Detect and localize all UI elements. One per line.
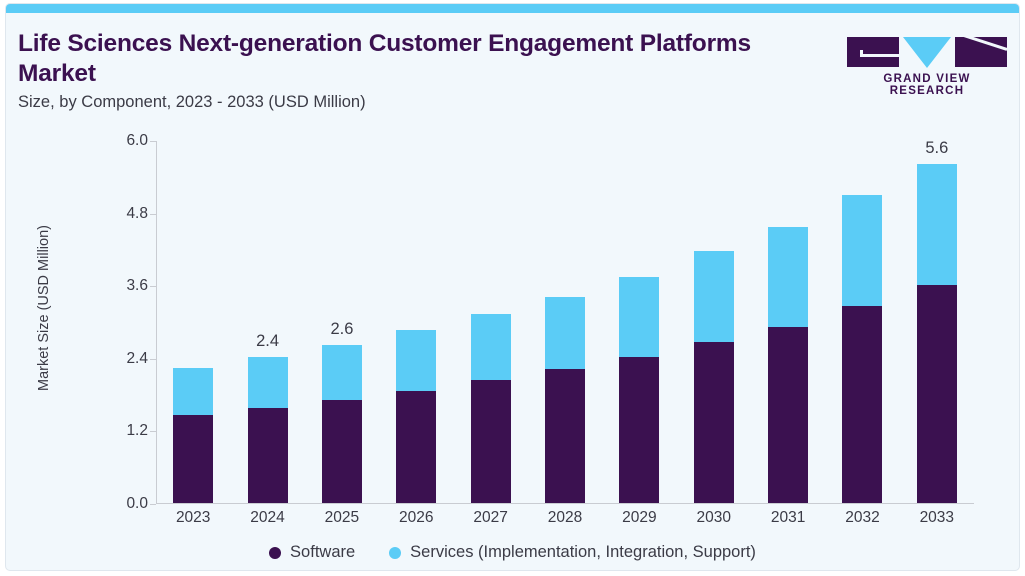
bar-segment-software[interactable] — [248, 408, 288, 503]
bar-segment-services[interactable] — [173, 368, 213, 415]
chart-subtitle: Size, by Component, 2023 - 2033 (USD Mil… — [18, 93, 366, 112]
bar-column-2026[interactable] — [396, 330, 436, 502]
x-tick-label-2033: 2033 — [900, 509, 974, 527]
logo-rect-left-icon — [847, 37, 899, 67]
logo-rect-right-icon — [955, 37, 1007, 67]
legend-swatch-icon — [269, 547, 281, 559]
legend-swatch-icon — [389, 547, 401, 559]
bar-segment-software[interactable] — [619, 357, 659, 502]
chart-legend: SoftwareServices (Implementation, Integr… — [6, 543, 1019, 562]
bar-segment-services[interactable] — [471, 314, 511, 381]
x-tick-label-2026: 2026 — [379, 509, 453, 527]
y-tick-label: 3.6 — [104, 277, 148, 295]
bar-column-2024[interactable]: 2.4 — [248, 357, 288, 502]
page-title: Life Sciences Next-generation Customer E… — [18, 29, 778, 89]
y-tick-mark — [150, 214, 156, 215]
bar-segment-services[interactable] — [768, 227, 808, 327]
legend-item-software[interactable]: Software — [269, 543, 355, 562]
x-tick-label-2031: 2031 — [751, 509, 825, 527]
legend-label: Software — [290, 543, 355, 562]
y-tick-mark — [150, 286, 156, 287]
bar-segment-services[interactable] — [694, 251, 734, 342]
bar-value-label-2033: 5.6 — [925, 139, 948, 158]
bar-segment-software[interactable] — [396, 391, 436, 503]
x-tick-label-2027: 2027 — [453, 509, 527, 527]
legend-item-services[interactable]: Services (Implementation, Integration, S… — [389, 543, 756, 562]
accent-top-bar — [6, 4, 1019, 13]
bar-segment-software[interactable] — [545, 369, 585, 503]
y-tick-label: 0.0 — [104, 495, 148, 513]
x-tick-label-2032: 2032 — [825, 509, 899, 527]
x-tick-label-2030: 2030 — [677, 509, 751, 527]
chart-header: Life Sciences Next-generation Customer E… — [6, 13, 1019, 125]
bar-segment-software[interactable] — [768, 327, 808, 502]
bar-segment-services[interactable] — [545, 297, 585, 368]
bar-column-2028[interactable] — [545, 297, 585, 502]
y-axis-line — [156, 141, 157, 504]
logo-mark-group — [847, 33, 1007, 69]
x-tick-label-2028: 2028 — [528, 509, 602, 527]
bar-segment-software[interactable] — [842, 306, 882, 503]
y-tick-mark — [150, 431, 156, 432]
bar-segment-services[interactable] — [248, 357, 288, 407]
bar-segment-software[interactable] — [322, 400, 362, 502]
bar-column-2033[interactable]: 5.6 — [917, 164, 957, 503]
bar-segment-software[interactable] — [694, 342, 734, 502]
bar-value-label-2025: 2.6 — [330, 320, 353, 339]
bar-segment-services[interactable] — [619, 277, 659, 357]
bar-column-2025[interactable]: 2.6 — [322, 345, 362, 502]
y-tick-label: 1.2 — [104, 422, 148, 440]
bar-value-label-2024: 2.4 — [256, 332, 279, 351]
x-tick-label-2024: 2024 — [230, 509, 304, 527]
logo-wordmark: GRAND VIEW RESEARCH — [847, 73, 1007, 97]
legend-label: Services (Implementation, Integration, S… — [410, 543, 756, 562]
bar-segment-services[interactable] — [842, 195, 882, 306]
y-axis-label: Market Size (USD Million) — [36, 178, 52, 438]
x-axis-line — [156, 503, 974, 505]
bar-segment-services[interactable] — [322, 345, 362, 400]
bar-segment-services[interactable] — [917, 164, 957, 285]
bar-segment-software[interactable] — [173, 415, 213, 503]
y-tick-label: 2.4 — [104, 350, 148, 368]
bar-column-2032[interactable] — [842, 195, 882, 502]
bar-segment-software[interactable] — [917, 285, 957, 503]
y-tick-mark — [150, 141, 156, 142]
logo-triangle-icon — [903, 37, 951, 68]
y-tick-label: 6.0 — [104, 132, 148, 150]
grand-view-research-logo: GRAND VIEW RESEARCH — [847, 33, 1007, 95]
bar-segment-services[interactable] — [396, 330, 436, 391]
bar-segment-software[interactable] — [471, 380, 511, 502]
x-tick-label-2029: 2029 — [602, 509, 676, 527]
bar-column-2023[interactable] — [173, 368, 213, 502]
bar-column-2027[interactable] — [471, 314, 511, 503]
bar-column-2030[interactable] — [694, 251, 734, 502]
axes: 0.01.22.43.64.86.0 2.42.65.6 20232024202… — [156, 137, 974, 504]
y-tick-label: 4.8 — [104, 205, 148, 223]
bar-column-2031[interactable] — [768, 227, 808, 503]
x-tick-label-2025: 2025 — [305, 509, 379, 527]
x-tick-label-2023: 2023 — [156, 509, 230, 527]
chart-plot-area: Market Size (USD Million) 0.01.22.43.64.… — [6, 125, 1019, 570]
chart-card: Life Sciences Next-generation Customer E… — [6, 4, 1019, 570]
y-tick-mark — [150, 504, 156, 505]
y-tick-mark — [150, 359, 156, 360]
bar-column-2029[interactable] — [619, 277, 659, 503]
